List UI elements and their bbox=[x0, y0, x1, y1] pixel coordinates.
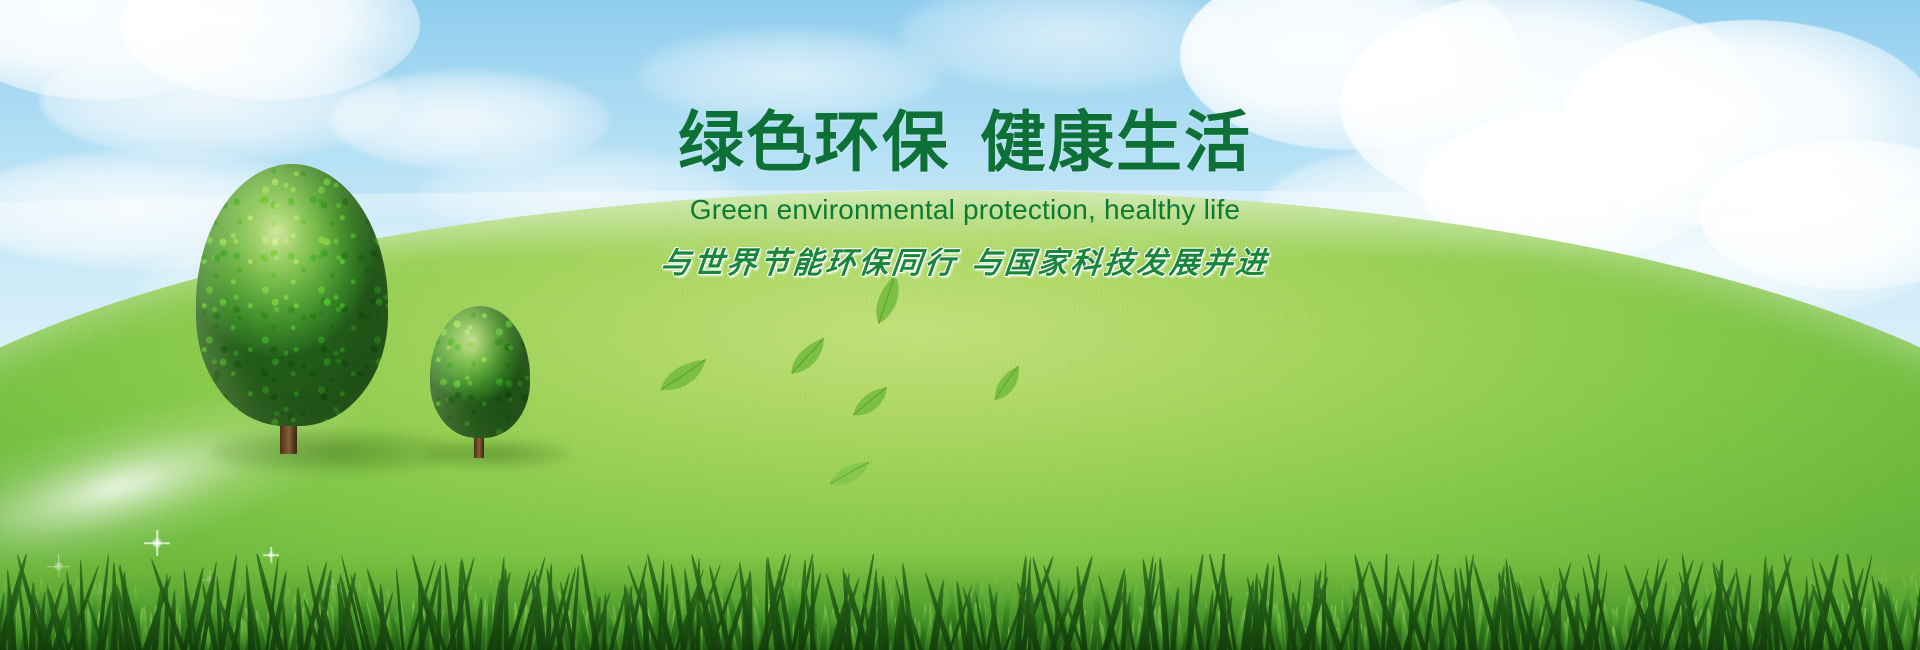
big-tree bbox=[196, 164, 388, 454]
small-tree-foliage-texture bbox=[430, 306, 530, 438]
green-environment-banner: 绿色环保健康生活 Green environmental protection,… bbox=[0, 0, 1920, 650]
chinese-slogan: 与世界节能环保同行与国家科技发展并进 bbox=[613, 238, 1318, 282]
small-tree bbox=[430, 306, 530, 456]
headline-part-2: 健康生活 bbox=[980, 105, 1252, 179]
page-title: 绿色环保健康生活 bbox=[615, 108, 1315, 178]
grass-blade-layer bbox=[0, 554, 1920, 650]
small-tree-canopy bbox=[430, 306, 530, 438]
banner-text-block: 绿色环保健康生活 Green environmental protection,… bbox=[615, 108, 1315, 282]
slogan-part-1: 与世界节能环保同行 bbox=[659, 247, 959, 280]
english-subtitle: Green environmental protection, healthy … bbox=[615, 194, 1315, 226]
big-tree-canopy bbox=[196, 164, 388, 426]
sparkle-icon bbox=[152, 538, 162, 548]
big-tree-foliage-texture bbox=[196, 164, 388, 426]
slogan-part-2: 与国家科技发展并进 bbox=[970, 247, 1270, 280]
headline-part-1: 绿色环保 bbox=[678, 105, 950, 179]
